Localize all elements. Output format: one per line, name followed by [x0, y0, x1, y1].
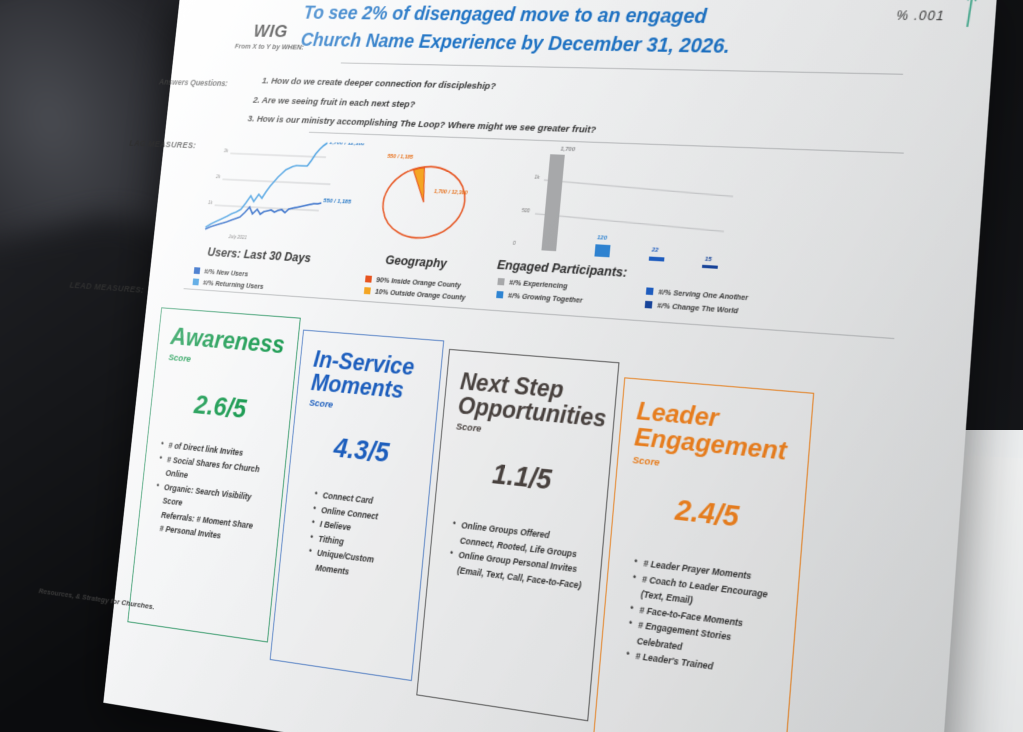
label-new-users-value: 550 / 1,185	[323, 197, 352, 205]
answers-questions-label: Answers Questions:	[159, 77, 229, 88]
percent-badge: % .001	[896, 8, 945, 23]
legend-swatch-inside-oc	[365, 275, 372, 282]
users-chart-legend: #/% New Users #/% Returning Users	[174, 262, 341, 296]
legend-label: #/% Serving One Another	[658, 287, 749, 302]
lead-card-next-step-opportunities[interactable]: Next Step Opportunities Score 1.1/5 Onli…	[416, 349, 619, 721]
lead-card-leader-engagement[interactable]: Leader Engagement Score 2.4/5 # Leader P…	[593, 377, 815, 732]
legend-label: 10% Outside Orange County	[375, 287, 466, 302]
engaged-participants-bar-chart: 1k 500 0 1,700 120 22 15	[504, 141, 745, 269]
card-bullet-list: Connect Card Online Connect I Believe Ti…	[292, 486, 415, 586]
y-tick-2k: 2k	[215, 174, 221, 180]
label-returning-users-value: 1,700 / 12,300	[329, 139, 366, 147]
card-bullet-list: Online Groups Offered Connect, Rooted, L…	[442, 517, 589, 594]
divider-top	[341, 62, 903, 74]
users-line-chart: 3k 2k 1k July 2021 1,700 / 12,300 550 / …	[202, 138, 379, 250]
lead-measures-label: LEAD MEASURES:	[69, 280, 144, 295]
bar-growing-together	[594, 244, 610, 257]
page-title: To see 2% of disengaged move to an engag…	[299, 0, 892, 66]
card-bullet-list: # Leader Prayer Moments # Coach to Leade…	[615, 554, 783, 683]
card-title: In-Service Moments	[310, 347, 428, 404]
legend-swatch-growing-together	[496, 291, 503, 298]
bar-value-15: 15	[704, 257, 712, 264]
bar-value-120: 120	[597, 235, 608, 242]
geography-pie-chart: 550 / 1,185 1,700 / 12,300	[362, 144, 493, 259]
card-score-value: 4.3/5	[303, 430, 420, 472]
legend-swatch-experiencing	[497, 278, 504, 285]
card-score-value: 2.6/5	[162, 388, 279, 429]
y-tick-1k: 1k	[208, 200, 214, 206]
legend-swatch-returning-users	[192, 278, 199, 285]
legend-swatch-serving-one-another	[646, 287, 654, 295]
legend-swatch-new-users	[194, 267, 201, 274]
bar-experiencing	[541, 154, 564, 251]
bar-value-1700: 1,700	[560, 147, 576, 154]
series-new-users	[205, 197, 321, 235]
lag-measures-label: LAG MEASURES:	[129, 138, 197, 150]
bar-change-the-world	[702, 265, 718, 269]
legend-label: #/% Experiencing	[509, 278, 568, 291]
bar-chart-gridlines	[534, 180, 734, 232]
lead-card-awareness[interactable]: Awareness Score 2.6/5 # of Direct link I…	[127, 307, 300, 642]
x-tick-july: July 2021	[227, 234, 247, 241]
y-tick-1k: 1k	[534, 175, 540, 181]
legend-swatch-change-the-world	[645, 301, 653, 309]
legend-swatch-outside-oc	[364, 287, 371, 294]
lead-card-in-service-moments[interactable]: In-Service Moments Score 4.3/5 Connect C…	[270, 330, 445, 681]
legend-label: #/% Returning Users	[203, 278, 264, 291]
headline-line-2: Church Name Experience by December 31, 2…	[299, 27, 890, 65]
y-tick-500: 500	[521, 208, 530, 214]
card-title: Next Step Opportunities	[457, 369, 603, 431]
bar-serving-one-another	[649, 257, 665, 262]
y-tick-3k: 3k	[223, 148, 229, 154]
slide-perspective-wrapper: WIG From X to Y by WHEN: To see 2% of di…	[0, 0, 1023, 732]
y-tick-0: 0	[513, 241, 516, 247]
bar-value-22: 22	[650, 247, 659, 254]
photo-scene: WIG From X to Y by WHEN: To see 2% of di…	[0, 0, 1023, 732]
card-title: Leader Engagement	[633, 398, 796, 466]
card-score-value: 1.1/5	[451, 455, 595, 502]
card-score-value: 2.4/5	[627, 490, 789, 540]
arrow-up-icon	[954, 0, 982, 35]
pie-slice-outside-orange-county	[413, 167, 429, 203]
pie-label-inside-value: 1,700 / 12,300	[434, 189, 469, 197]
legend-label: #/% New Users	[204, 267, 249, 278]
geography-chart-legend: 90% Inside Orange County 10% Outside Ora…	[344, 270, 495, 304]
legend-label: #/% Change The World	[657, 301, 739, 316]
legend-label: #/% Growing Together	[508, 291, 583, 305]
wig-scoreboard-slide: WIG From X to Y by WHEN: To see 2% of di…	[103, 0, 997, 732]
answers-questions-list: 1. How do we create deeper connection fo…	[247, 72, 787, 148]
card-bullet-list: # of Direct link Invites # Social Shares…	[150, 438, 274, 549]
pie-label-outside-value: 550 / 1,185	[387, 154, 414, 161]
